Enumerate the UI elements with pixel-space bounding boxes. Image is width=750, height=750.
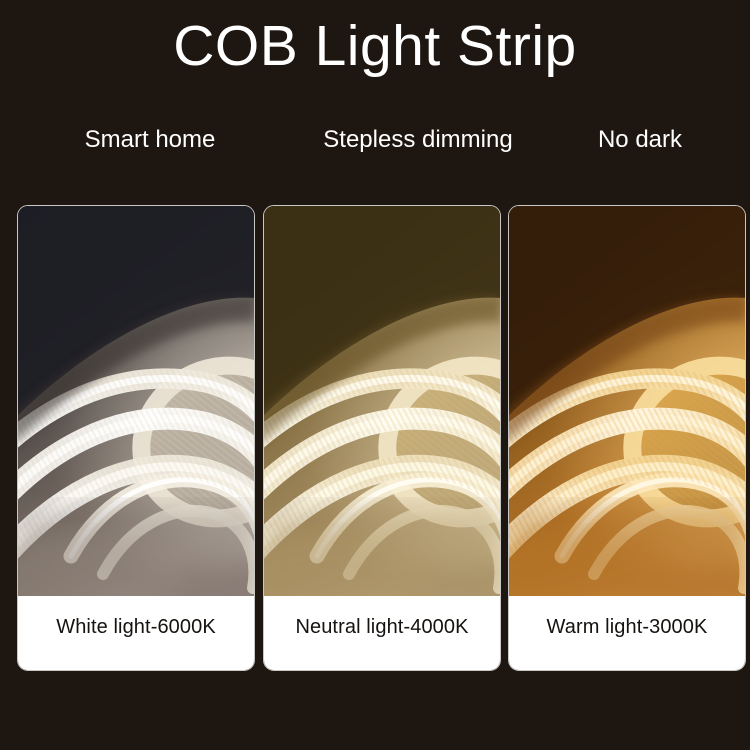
product-card-white-light[interactable]: White light-6000K [17,205,255,671]
card-caption-warm: Warm light-3000K [509,596,745,671]
feature-item-smart-home: Smart home [30,120,270,160]
led-coil-illustration-warm [509,206,745,596]
card-caption-text: White light-6000K [56,616,216,639]
product-card-neutral-light[interactable]: Neutral light-4000K [263,205,501,671]
card-caption-white: White light-6000K [18,596,254,671]
page-title: COB Light Strip [0,16,750,78]
led-strip-photo-warm [509,206,745,596]
led-strip-photo-white [18,206,254,596]
feature-item-stepless-dimming: Stepless dimming [288,120,548,160]
led-coil-illustration-neutral [264,206,500,596]
card-caption-text: Neutral light-4000K [295,616,468,639]
feature-item-no-dark: No dark [548,120,732,160]
led-strip-photo-neutral [264,206,500,596]
product-card-row: White light-6000K [17,205,735,671]
feature-list: Smart home Stepless dimming No dark [0,120,750,160]
product-banner: COB Light Strip Smart home Stepless dimm… [0,0,750,750]
header: COB Light Strip Smart home Stepless dimm… [0,0,750,190]
led-coil-illustration-white [18,206,254,596]
card-caption-neutral: Neutral light-4000K [264,596,500,671]
card-caption-text: Warm light-3000K [547,616,708,639]
product-card-warm-light[interactable]: Warm light-3000K [508,205,746,671]
